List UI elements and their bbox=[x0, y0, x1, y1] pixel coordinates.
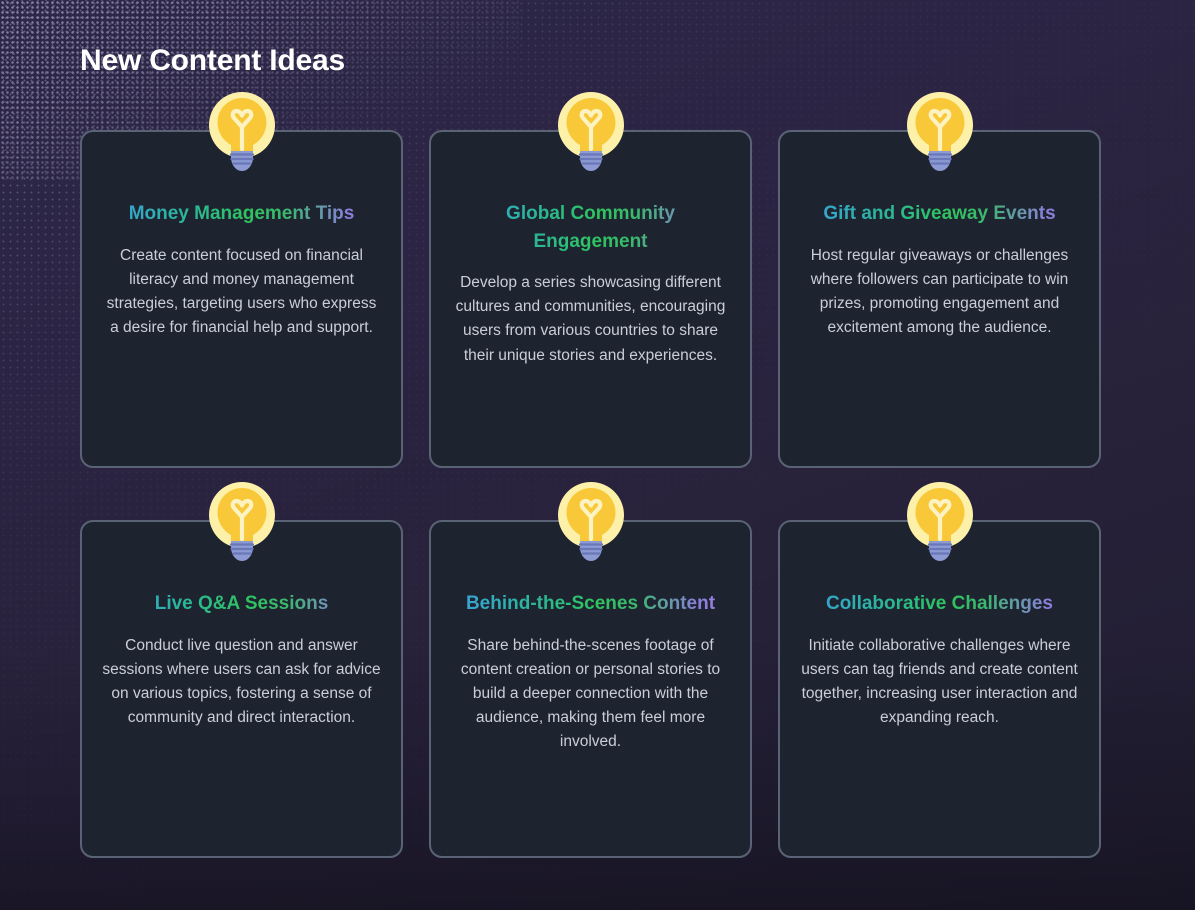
idea-card-6[interactable]: Collaborative Challenges Initiate collab… bbox=[778, 520, 1101, 858]
card-description: Create content focused on financial lite… bbox=[102, 244, 381, 341]
page-container: New Content Ideas Money Management Tips … bbox=[0, 0, 1195, 910]
card-description: Host regular giveaways or challenges whe… bbox=[800, 244, 1079, 341]
lightbulb-icon bbox=[906, 481, 974, 563]
lightbulb-icon bbox=[208, 481, 276, 563]
idea-cards-grid: Money Management Tips Create content foc… bbox=[80, 130, 1115, 858]
lightbulb-icon bbox=[557, 481, 625, 563]
card-description: Develop a series showcasing different cu… bbox=[451, 271, 730, 368]
card-description: Share behind-the-scenes footage of conte… bbox=[451, 634, 730, 755]
idea-card-4[interactable]: Live Q&A Sessions Conduct live question … bbox=[80, 520, 403, 858]
page-title: New Content Ideas bbox=[80, 0, 1115, 78]
lightbulb-icon bbox=[557, 91, 625, 173]
card-title: Global Community Engagement bbox=[451, 200, 730, 255]
lightbulb-icon bbox=[906, 91, 974, 173]
card-title: Money Management Tips bbox=[102, 200, 381, 228]
lightbulb-icon bbox=[208, 91, 276, 173]
idea-card-3[interactable]: Gift and Giveaway Events Host regular gi… bbox=[778, 130, 1101, 468]
idea-card-5[interactable]: Behind-the-Scenes Content Share behind-t… bbox=[429, 520, 752, 858]
card-title: Gift and Giveaway Events bbox=[800, 200, 1079, 228]
card-title: Behind-the-Scenes Content bbox=[451, 590, 730, 618]
idea-card-1[interactable]: Money Management Tips Create content foc… bbox=[80, 130, 403, 468]
card-title: Live Q&A Sessions bbox=[102, 590, 381, 618]
card-title: Collaborative Challenges bbox=[800, 590, 1079, 618]
card-description: Initiate collaborative challenges where … bbox=[800, 634, 1079, 731]
idea-card-2[interactable]: Global Community Engagement Develop a se… bbox=[429, 130, 752, 468]
card-description: Conduct live question and answer session… bbox=[102, 634, 381, 731]
